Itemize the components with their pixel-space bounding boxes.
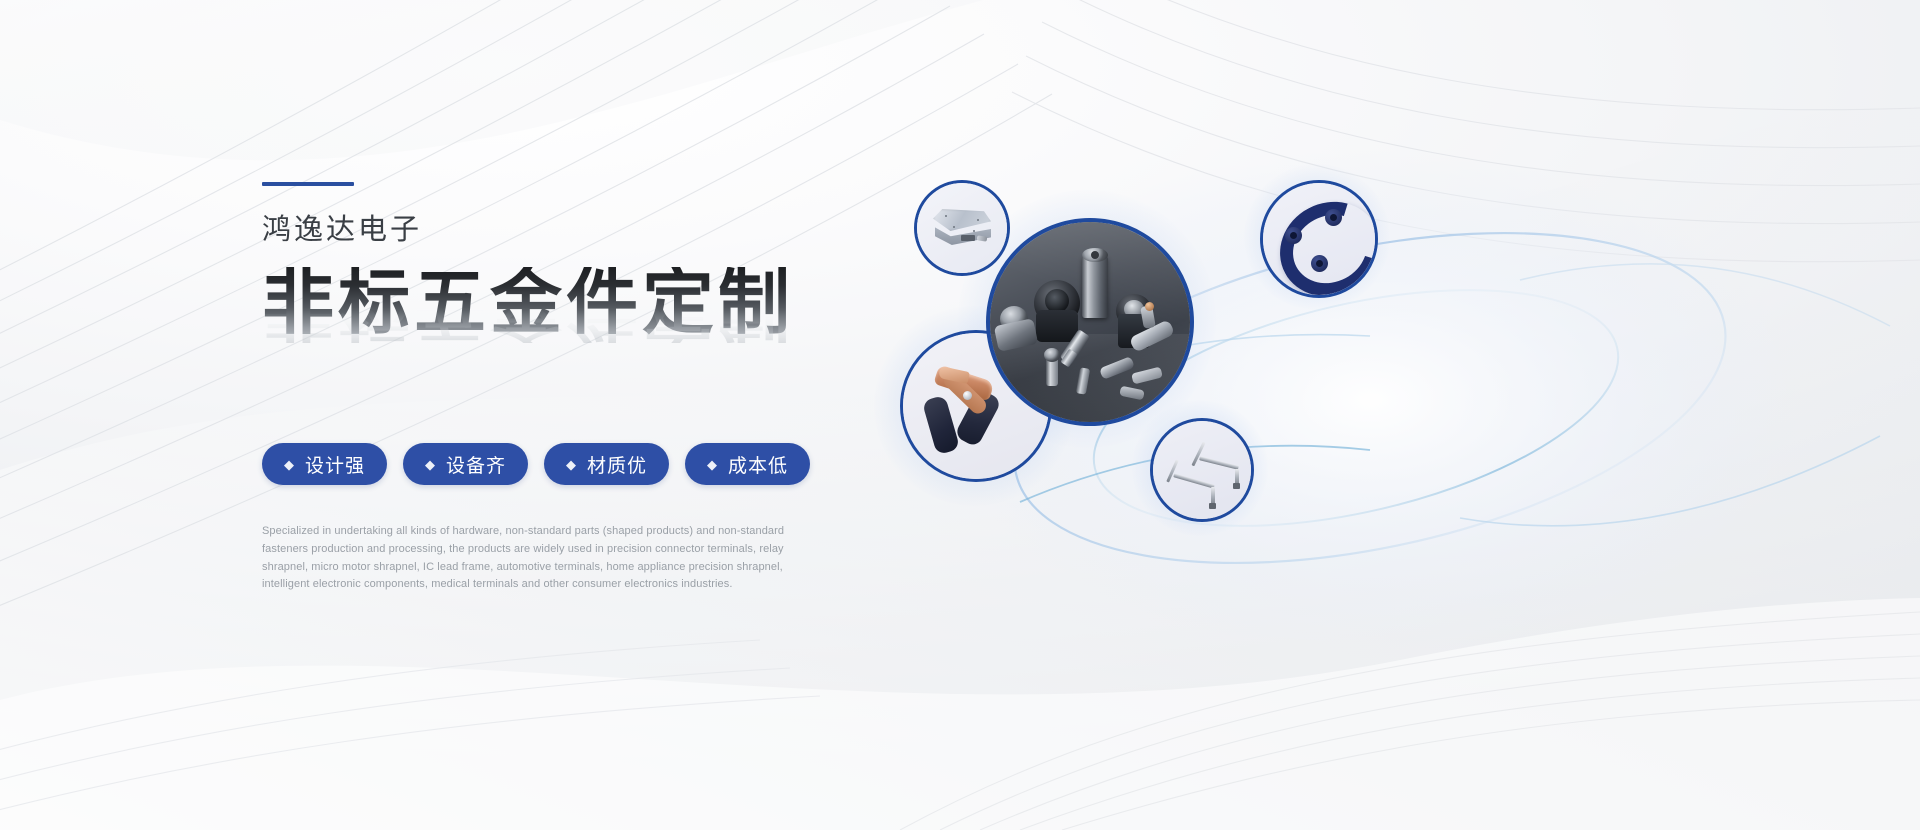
bent-terminals-icon xyxy=(1153,421,1251,519)
diamond-icon: ◆ xyxy=(425,458,436,471)
feature-badge-label: 设计强 xyxy=(305,451,365,478)
navy-c-ring-icon xyxy=(1263,183,1375,295)
diamond-icon: ◆ xyxy=(284,458,295,471)
page-title-reflection: 非标五金件定制 xyxy=(262,301,794,343)
feature-badge-label: 成本低 xyxy=(728,451,788,478)
accent-bar xyxy=(262,182,354,186)
product-bubble-navy-c-ring[interactable] xyxy=(1260,180,1378,298)
feature-badge-label: 设备齐 xyxy=(446,451,506,478)
feature-badge-design[interactable]: ◆ 设计强 xyxy=(262,443,387,485)
product-visual xyxy=(900,150,1900,650)
feature-badge-list: ◆ 设计强 ◆ 设备齐 ◆ 材质优 ◆ 成本低 xyxy=(262,443,942,485)
product-bubble-precision-parts[interactable] xyxy=(986,218,1194,426)
feature-badge-label: 材质优 xyxy=(587,451,647,478)
feature-badge-equipment[interactable]: ◆ 设备齐 xyxy=(403,443,528,485)
diamond-icon: ◆ xyxy=(707,458,718,471)
feature-badge-material[interactable]: ◆ 材质优 xyxy=(544,443,669,485)
hero-copy: 鸿逸达电子 非标五金件定制 非标五金件定制 ◆ 设计强 ◆ 设备齐 ◆ 材质优 … xyxy=(262,182,942,605)
product-bubble-bent-terminals[interactable] xyxy=(1150,418,1254,522)
feature-badge-cost[interactable]: ◆ 成本低 xyxy=(685,443,810,485)
diamond-icon: ◆ xyxy=(566,458,577,471)
headline-group: 非标五金件定制 非标五金件定制 xyxy=(262,267,942,385)
description-paragraph: Specialized in undertaking all kinds of … xyxy=(262,523,822,594)
hero-banner: 鸿逸达电子 非标五金件定制 非标五金件定制 ◆ 设计强 ◆ 设备齐 ◆ 材质优 … xyxy=(0,0,1920,830)
brand-name: 鸿逸达电子 xyxy=(262,216,942,245)
precision-parts-photo xyxy=(990,222,1190,422)
